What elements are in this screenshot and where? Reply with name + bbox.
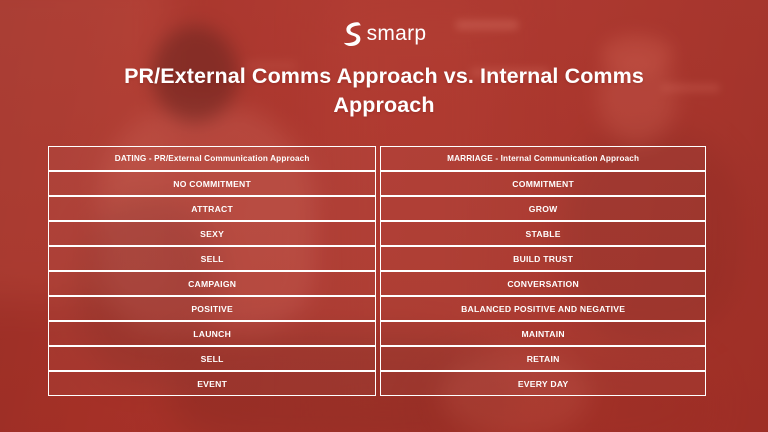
comparison-table-body: DATING - PR/External Communication Appro… — [48, 146, 706, 396]
comparison-table-wrapper: DATING - PR/External Communication Appro… — [48, 146, 706, 396]
table-header-marriage: MARRIAGE - Internal Communication Approa… — [380, 146, 706, 171]
cell-right: EVERY DAY — [380, 371, 706, 396]
cell-right: GROW — [380, 196, 706, 221]
brand-logo: smarp — [0, 19, 768, 49]
cell-right: STABLE — [380, 221, 706, 246]
cell-left: POSITIVE — [48, 296, 376, 321]
cell-left: CAMPAIGN — [48, 271, 376, 296]
table-header-row: DATING - PR/External Communication Appro… — [48, 146, 706, 171]
cell-left: SELL — [48, 346, 376, 371]
cell-left: NO COMMITMENT — [48, 171, 376, 196]
cell-left: SELL — [48, 246, 376, 271]
table-row: LAUNCH MAINTAIN — [48, 321, 706, 346]
presentation-slide: smarp PR/External Comms Approach vs. Int… — [0, 0, 768, 432]
cell-left: SEXY — [48, 221, 376, 246]
cell-right: CONVERSATION — [380, 271, 706, 296]
cell-right: RETAIN — [380, 346, 706, 371]
table-row: SEXY STABLE — [48, 221, 706, 246]
table-header-dating: DATING - PR/External Communication Appro… — [48, 146, 376, 171]
cell-left: ATTRACT — [48, 196, 376, 221]
brand-logo-text: smarp — [367, 23, 427, 46]
table-row: NO COMMITMENT COMMITMENT — [48, 171, 706, 196]
table-row: SELL RETAIN — [48, 346, 706, 371]
cell-right: COMMITMENT — [380, 171, 706, 196]
table-row: SELL BUILD TRUST — [48, 246, 706, 271]
cell-left: EVENT — [48, 371, 376, 396]
table-row: ATTRACT GROW — [48, 196, 706, 221]
table-row: POSITIVE BALANCED POSITIVE AND NEGATIVE — [48, 296, 706, 321]
cell-right: BUILD TRUST — [380, 246, 706, 271]
comparison-table: DATING - PR/External Communication Appro… — [48, 146, 706, 396]
cell-right: MAINTAIN — [380, 321, 706, 346]
slide-content: smarp PR/External Comms Approach vs. Int… — [0, 0, 768, 432]
cell-right: BALANCED POSITIVE AND NEGATIVE — [380, 296, 706, 321]
cell-left: LAUNCH — [48, 321, 376, 346]
slide-title: PR/External Comms Approach vs. Internal … — [96, 62, 672, 120]
table-row: EVENT EVERY DAY — [48, 371, 706, 396]
table-row: CAMPAIGN CONVERSATION — [48, 271, 706, 296]
smarp-swoosh-icon — [342, 21, 361, 47]
